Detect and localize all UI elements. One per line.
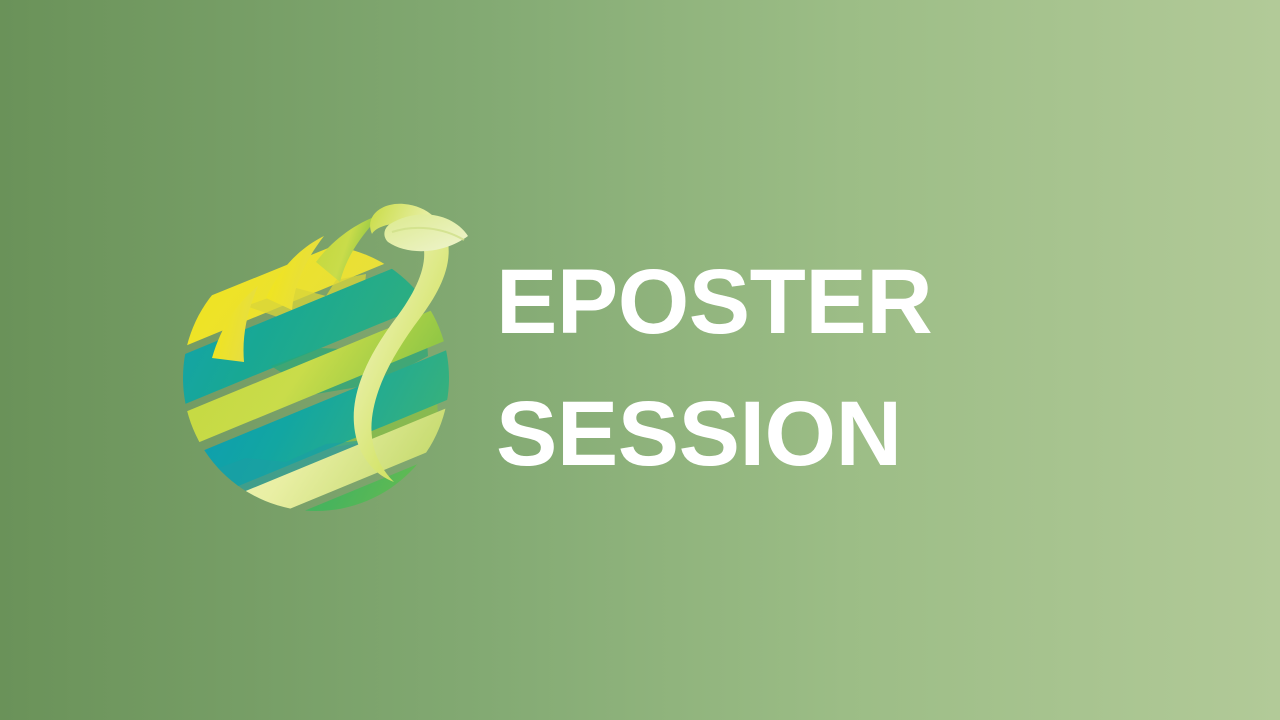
eposter-session-slide: EPOSTER SESSION	[0, 0, 1280, 720]
page-title-line-1: EPOSTER	[496, 236, 1056, 368]
globe-ribbon-leaf-logo	[176, 198, 468, 520]
title-block: EPOSTER SESSION	[496, 236, 1056, 500]
page-title-line-2: SESSION	[496, 368, 1056, 500]
